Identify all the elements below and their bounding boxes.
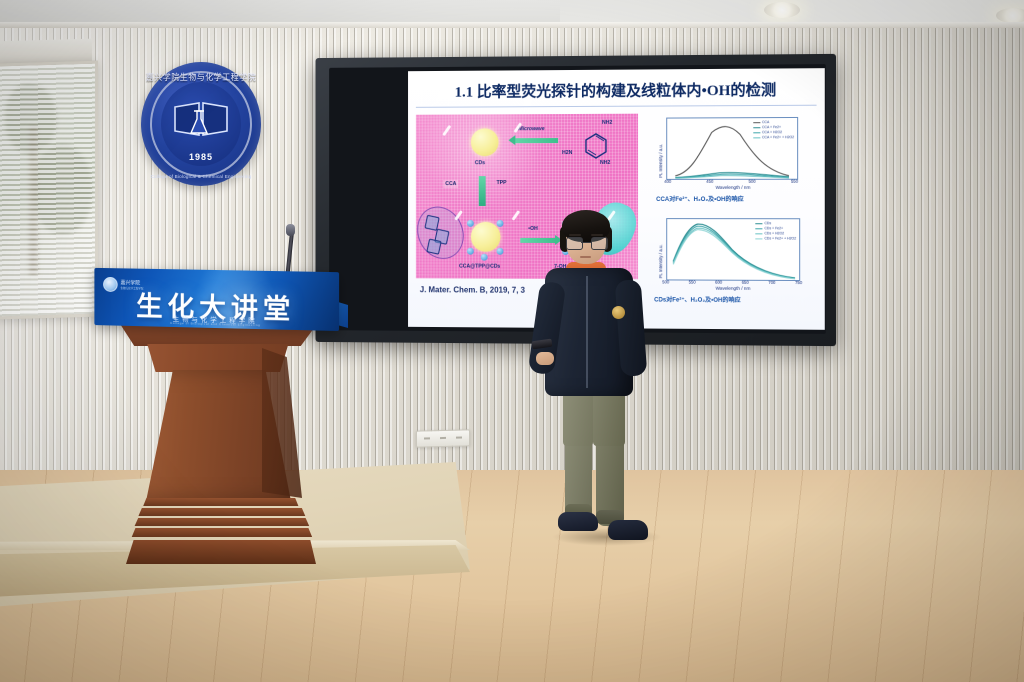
ceiling-downlight-2 bbox=[996, 8, 1024, 23]
reaction-scheme-figure: CDs Microwave NH2 H2N NH2 CCA TPP bbox=[416, 114, 638, 280]
podium-base bbox=[126, 540, 316, 564]
legend-swatch bbox=[753, 132, 760, 133]
podium-step-2 bbox=[135, 508, 307, 516]
tpp-bead-4 bbox=[497, 248, 504, 255]
power-outlet[interactable] bbox=[416, 429, 470, 447]
speaker-right-eyebrow bbox=[591, 234, 603, 236]
emblem-english-arc-text: College of Biological & Chemical Enginee… bbox=[141, 174, 261, 179]
legend-swatch bbox=[753, 127, 760, 128]
vertical-reaction-arrow bbox=[479, 176, 486, 206]
scheme-label-nh2-bottom: NH2 bbox=[600, 160, 610, 166]
sparkle-4 bbox=[512, 210, 521, 221]
chart-bottom-ylabel: PL Intensity / a.u. bbox=[658, 244, 663, 278]
scheme-label-h2n: H2N bbox=[562, 150, 572, 156]
xtick: 500 bbox=[749, 179, 756, 184]
xtick: 750 bbox=[795, 280, 802, 285]
glasses-left-lens bbox=[566, 237, 583, 250]
legend-swatch bbox=[755, 233, 762, 234]
legend-item: CDs + Fe2+ + H2O2 bbox=[755, 236, 796, 241]
cds-particle-top bbox=[471, 128, 499, 156]
cds-particle-conjugate bbox=[471, 222, 501, 252]
speaker-hand bbox=[536, 352, 554, 365]
podium-banner: 嘉兴学院 生物与化学工程学院 生化大讲堂 生物与化学工程学院 College o… bbox=[94, 268, 339, 331]
xtick: 700 bbox=[768, 280, 775, 285]
scheme-label-tpp: TPP bbox=[497, 180, 507, 186]
chart-top-plot-area: CCA CCA + Fe2+ CCA + H2O2 bbox=[666, 117, 798, 180]
chart-bottom-plot-area: CDs CDs + Fe2+ CDs + H2O2 bbox=[666, 218, 800, 281]
scheme-label-nh2-top: NH2 bbox=[602, 120, 612, 126]
emblem-year: 1985 bbox=[141, 152, 261, 162]
outlet-socket-1 bbox=[424, 437, 430, 439]
tpp-bead-5 bbox=[481, 254, 488, 261]
legend-swatch bbox=[755, 228, 762, 229]
tpp-bead-3 bbox=[467, 248, 474, 255]
microwave-arrow bbox=[514, 138, 558, 143]
scheme-label-cca: CCA bbox=[443, 180, 458, 188]
legend-swatch bbox=[753, 122, 760, 123]
legend-label: CCA + Fe2+ + H2O2 bbox=[762, 135, 794, 140]
slide-citation: J. Mater. Chem. B, 2019, 7, 3 bbox=[420, 285, 525, 294]
chart-top-xlabel: Wavelength / nm bbox=[650, 185, 816, 190]
speaker-jacket-zipper bbox=[586, 276, 588, 388]
xtick: 400 bbox=[664, 179, 671, 184]
xtick: 550 bbox=[791, 179, 798, 184]
scheme-label-conjugate: CCA@TPP@CDs bbox=[459, 264, 500, 270]
chart-bottom-xticks: 500 550 600 650 700 750 bbox=[662, 279, 802, 285]
wall-emblem: 嘉兴学院生物与化学工程学院 1985 College of Biological… bbox=[141, 62, 261, 186]
xtick: 450 bbox=[706, 179, 713, 184]
legend-swatch bbox=[755, 223, 762, 224]
slide-title-divider bbox=[416, 105, 817, 108]
sparkle-1 bbox=[442, 125, 451, 136]
podium-step-4 bbox=[128, 528, 314, 537]
book-flask-icon bbox=[173, 101, 229, 137]
scheme-label-microwave: Microwave bbox=[518, 126, 544, 132]
glasses-bridge bbox=[581, 242, 591, 243]
xtick: 500 bbox=[662, 279, 669, 284]
legend-swatch bbox=[755, 238, 762, 239]
speaker-sleeve-badge-icon bbox=[612, 306, 625, 319]
hydroxyl-radical-arrow bbox=[520, 238, 556, 243]
speaker-right-hip bbox=[593, 388, 625, 446]
legend-item: CCA + Fe2+ + H2O2 bbox=[753, 135, 794, 140]
chart-bottom-legend: CDs CDs + Fe2+ CDs + H2O2 bbox=[755, 221, 796, 241]
scheme-label-oh-radical: •OH bbox=[528, 226, 538, 232]
speaker-mouth bbox=[580, 256, 591, 258]
xtick: 600 bbox=[715, 280, 722, 285]
speaker-left-hip bbox=[563, 388, 593, 446]
xtick: 550 bbox=[689, 280, 696, 285]
chart-top-legend: CCA CCA + Fe2+ CCA + H2O2 bbox=[753, 120, 794, 140]
speaker-left-eyebrow bbox=[569, 234, 581, 236]
ceiling-downlight-1 bbox=[764, 2, 800, 18]
outlet-socket-2 bbox=[440, 437, 446, 439]
window-blinds[interactable] bbox=[0, 64, 95, 317]
chart-bottom-caption: CDs对Fe²⁺、H₂O₂及•OH的响应 bbox=[654, 294, 741, 304]
scheme-label-cds: CDs bbox=[475, 160, 485, 166]
window bbox=[0, 61, 98, 320]
podium-step-1 bbox=[140, 498, 300, 506]
chart-top-container: PL Intensity / a.u. CCA bbox=[650, 115, 816, 196]
outlet-socket-3 bbox=[456, 437, 462, 439]
slide-title: 1.1 比率型荧光探针的构建及线粒体内•OH的检测 bbox=[408, 78, 825, 102]
legend-swatch bbox=[753, 137, 760, 138]
lecture-hall-photo: 嘉兴学院生物与化学工程学院 1985 College of Biological… bbox=[0, 0, 1024, 682]
speaker-right-shoe bbox=[608, 520, 648, 540]
glasses-right-lens bbox=[591, 237, 608, 250]
speaker-left-shoe bbox=[558, 512, 598, 531]
chart-top-caption: CCA对Fe²⁺、H₂O₂及•OH的响应 bbox=[656, 194, 744, 203]
wall-trim bbox=[0, 22, 1024, 28]
microphone-head-icon bbox=[286, 224, 295, 236]
tpp-bead-2 bbox=[497, 220, 504, 227]
legend-label: CDs + Fe2+ + H2O2 bbox=[764, 236, 796, 241]
tpp-bead-1 bbox=[467, 220, 474, 227]
chart-bottom-container: PL Intensity / a.u. CDs bbox=[650, 216, 816, 297]
podium-step-3 bbox=[131, 518, 311, 526]
chart-top-xticks: 400 450 500 550 bbox=[664, 179, 798, 184]
xtick: 650 bbox=[742, 280, 749, 285]
chart-bottom-xlabel: Wavelength / nm bbox=[650, 285, 816, 291]
speaker-glasses-icon bbox=[566, 237, 606, 248]
diamine-molecule-icon bbox=[572, 122, 620, 170]
chart-top-ylabel: PL Intensity / a.u. bbox=[658, 144, 663, 178]
